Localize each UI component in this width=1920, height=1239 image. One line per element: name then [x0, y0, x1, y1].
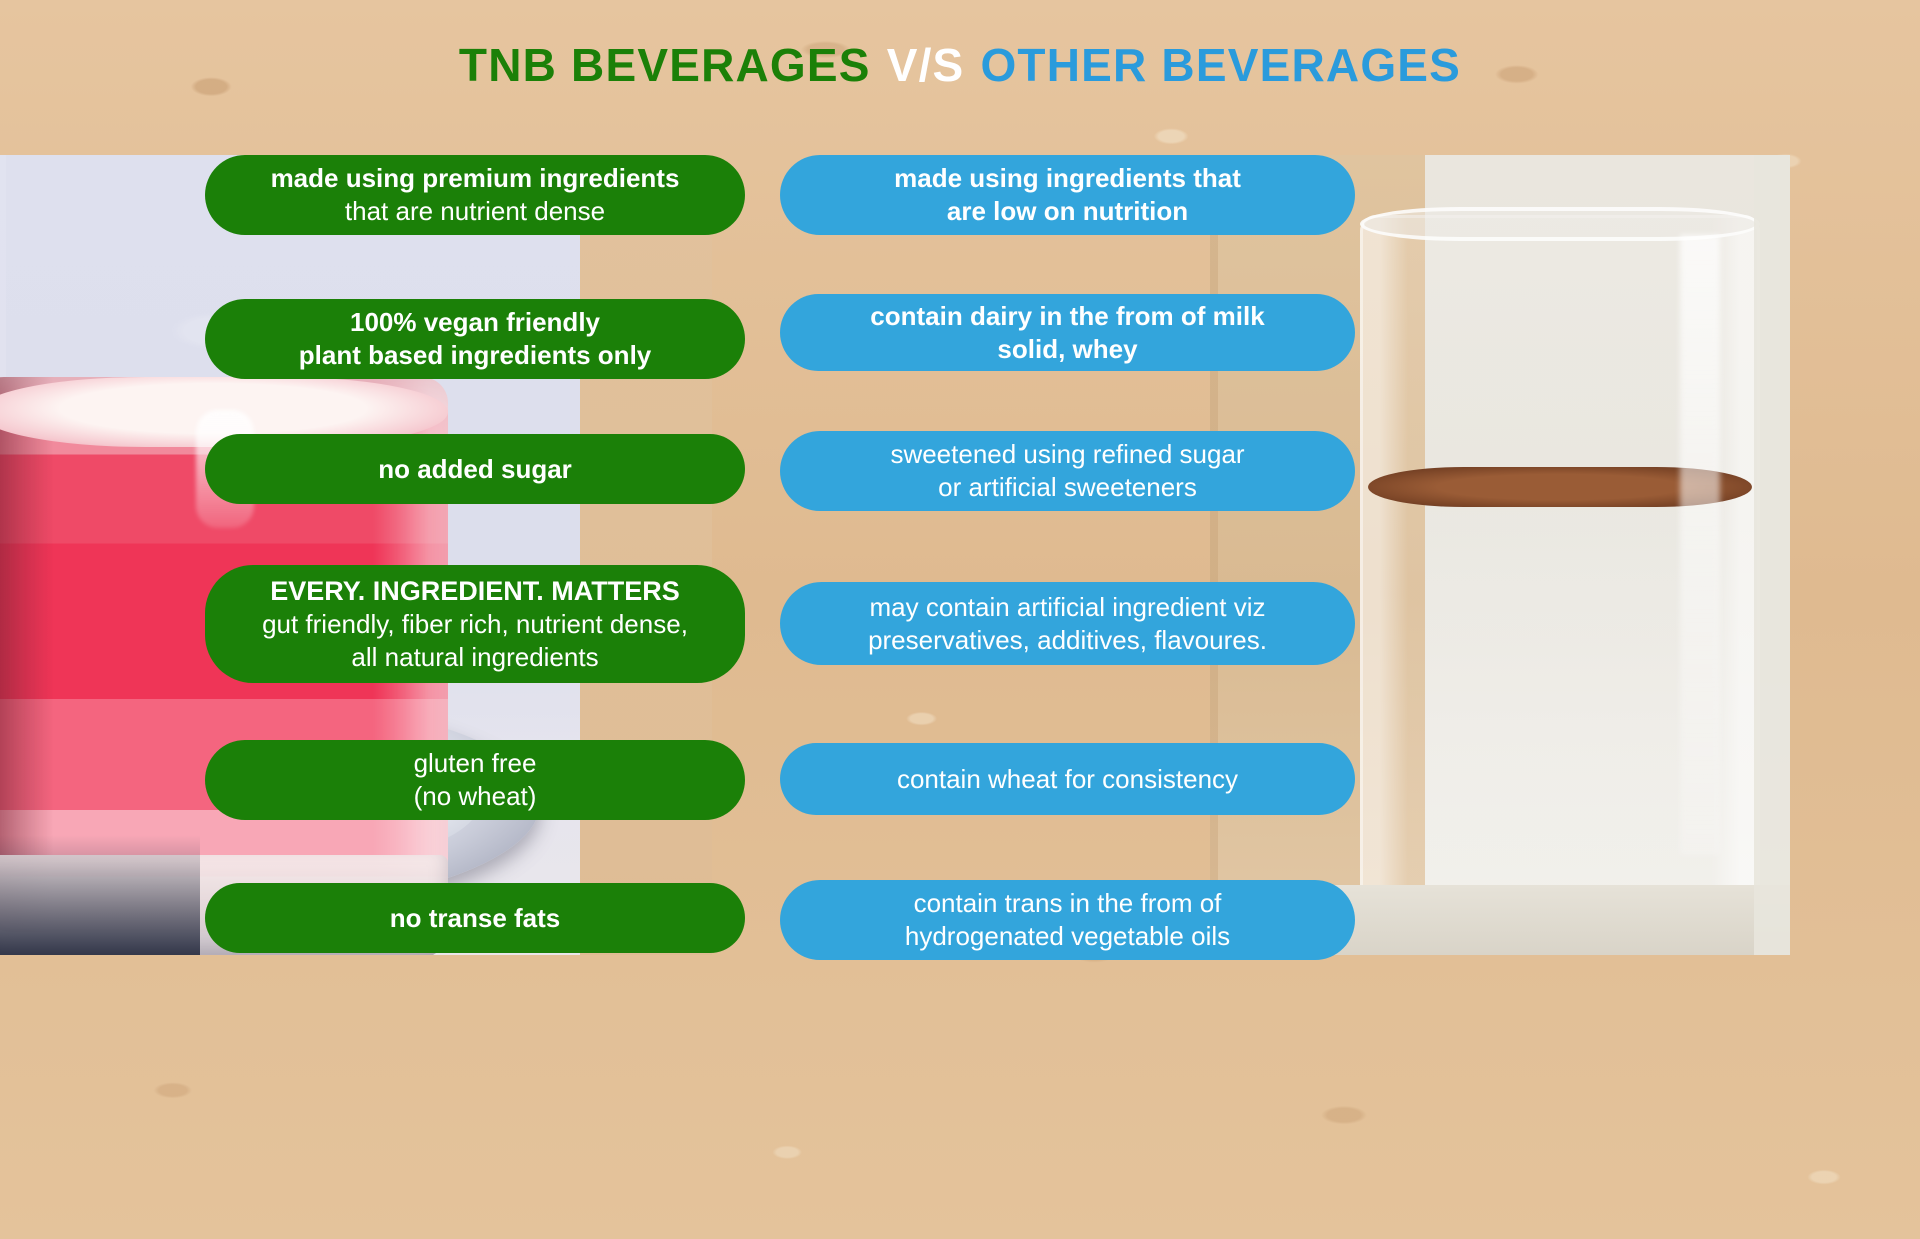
pill-line: are low on nutrition: [947, 195, 1188, 228]
pill-line: made using premium ingredients: [271, 162, 680, 195]
tnb-pill-row-4[interactable]: EVERY. INGREDIENT. MATTERS gut friendly,…: [205, 565, 745, 683]
pill-line: 100% vegan friendly: [350, 306, 600, 339]
pill-line: no added sugar: [378, 453, 572, 486]
pill-line: gluten free: [414, 747, 537, 780]
pill-line: (no wheat): [414, 780, 537, 813]
other-pill-row-5[interactable]: contain wheat for consistency: [780, 743, 1355, 815]
tnb-pill-row-1[interactable]: made using premium ingredients that are …: [205, 155, 745, 235]
pill-line: contain trans in the from of: [914, 887, 1222, 920]
pill-line: all natural ingredients: [351, 641, 598, 674]
pill-line: contain wheat for consistency: [897, 763, 1238, 796]
pill-line: contain dairy in the from of milk: [870, 300, 1264, 333]
pill-line: hydrogenated vegetable oils: [905, 920, 1230, 953]
pill-line: no transe fats: [390, 902, 561, 935]
tnb-pill-row-2[interactable]: 100% vegan friendly plant based ingredie…: [205, 299, 745, 379]
other-pill-row-2[interactable]: contain dairy in the from of milk solid,…: [780, 294, 1355, 371]
pill-line: sweetened using refined sugar: [890, 438, 1244, 471]
pill-line: may contain artificial ingredient viz: [870, 591, 1266, 624]
infographic-poster: TNB BEVERAGESV/SOTHER BEVERAGES made usi…: [0, 0, 1920, 1239]
tnb-pill-row-3[interactable]: no added sugar: [205, 434, 745, 504]
comparison-grid: made using premium ingredients that are …: [0, 0, 1920, 1239]
pill-line: EVERY. INGREDIENT. MATTERS: [270, 575, 680, 608]
other-pill-row-3[interactable]: sweetened using refined sugar or artific…: [780, 431, 1355, 511]
pill-line: preservatives, additives, flavoures.: [868, 624, 1267, 657]
pill-line: made using ingredients that: [894, 162, 1241, 195]
pill-line: that are nutrient dense: [345, 195, 605, 228]
pill-line: solid, whey: [997, 333, 1137, 366]
other-pill-row-6[interactable]: contain trans in the from of hydrogenate…: [780, 880, 1355, 960]
tnb-pill-row-5[interactable]: gluten free (no wheat): [205, 740, 745, 820]
other-pill-row-1[interactable]: made using ingredients that are low on n…: [780, 155, 1355, 235]
other-pill-row-4[interactable]: may contain artificial ingredient viz pr…: [780, 582, 1355, 665]
tnb-pill-row-6[interactable]: no transe fats: [205, 883, 745, 953]
pill-line: plant based ingredients only: [299, 339, 652, 372]
pill-line: gut friendly, fiber rich, nutrient dense…: [262, 608, 688, 641]
pill-line: or artificial sweeteners: [938, 471, 1197, 504]
